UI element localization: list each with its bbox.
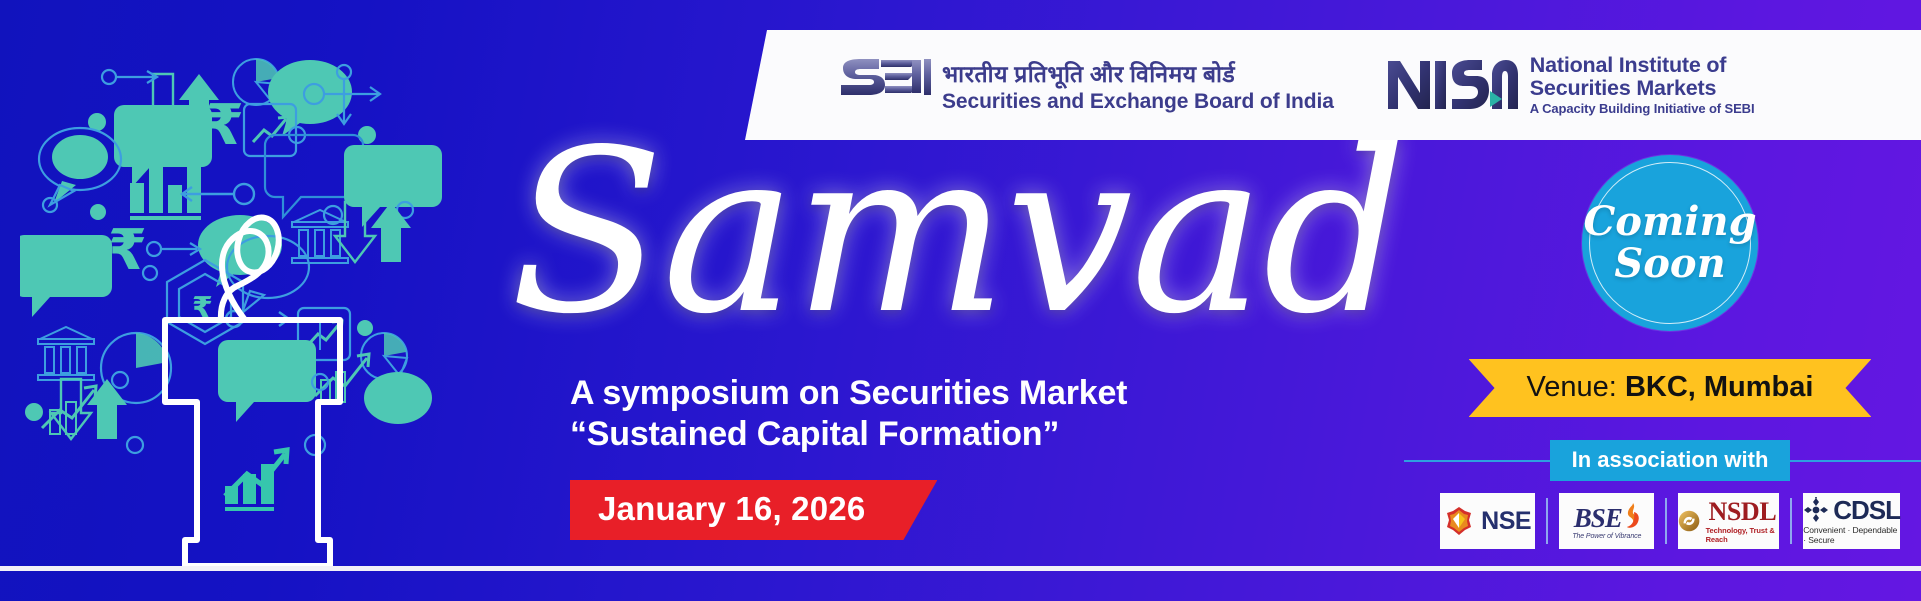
nsdl-swirl-icon [1678,507,1700,535]
venue-value: BKC, Mumbai [1625,371,1814,403]
association-label: In association with [1550,440,1791,481]
coming-soon-line-2: Soon [1614,244,1725,284]
cdsl-label: CDSL [1833,497,1900,523]
venue-label: Venue: [1527,371,1617,403]
bse-label: BSE [1574,503,1622,534]
sebi-logo: भारतीय प्रतिभूति और विनिमय बोर्ड Securit… [835,56,1334,114]
nism-line1: National Institute of [1530,54,1755,77]
coming-soon-badge: Coming Soon [1582,155,1758,331]
event-title: Samvad [500,130,1440,365]
association-header: In association with [1440,443,1900,477]
sebi-logomark-icon [835,56,932,114]
partner-divider [1546,498,1548,544]
nism-line3: A Capacity Building Initiative of SEBI [1530,102,1755,116]
sebi-english-name: Securities and Exchange Board of India [942,90,1334,114]
subtitle-line-2: “Sustained Capital Formation” [570,414,1440,455]
partner-logo-bse[interactable]: BSE The Power of Vibrance [1559,493,1654,549]
partner-divider [1665,498,1667,544]
sebi-hindi-name: भारतीय प्रतिभूति और विनिमय बोर्ड [942,57,1334,89]
bse-tagline: The Power of Vibrance [1572,533,1641,540]
nsdl-tagline: Technology, Trust & Reach [1706,526,1780,544]
partner-logo-nsdl[interactable]: NSDL Technology, Trust & Reach [1678,493,1779,549]
cdsl-tagline: Convenient · Dependable · Secure [1803,525,1900,545]
nse-logomark-icon [1444,506,1474,536]
finance-tree-illustration: ₹ [20,20,490,580]
partner-divider [1790,498,1792,544]
partner-header-band: भारतीय प्रतिभूति और विनिमय बोर्ड Securit… [745,30,1921,140]
partner-logo-cdsl[interactable]: CDSL Convenient · Dependable · Secure [1803,493,1900,549]
nsdl-label: NSDL [1709,499,1777,525]
bse-flame-icon [1623,503,1640,529]
subtitle-line-1: A symposium on Securities Market [570,373,1440,414]
event-date-banner: January 16, 2026 [570,480,937,540]
ground-line [0,566,1921,571]
nism-line2: Securities Markets [1530,77,1755,100]
partner-logo-row: NSE BSE The Power of Vibrance [1440,493,1900,549]
coming-soon-line-1: Coming [1583,202,1756,242]
nism-logo: National Institute of Securities Markets… [1386,54,1755,116]
event-meta-column: Coming Soon Venue: BKC, Mumbai In associ… [1440,155,1900,549]
event-subtitle: A symposium on Securities Market “Sustai… [500,373,1440,456]
event-banner: ₹ [0,0,1921,601]
nism-logomark-icon [1386,57,1518,113]
event-details: Samvad A symposium on Securities Market … [500,130,1440,540]
nse-label: NSE [1481,507,1531,536]
venue-ribbon: Venue: BKC, Mumbai [1469,359,1872,417]
partner-logo-nse[interactable]: NSE [1440,493,1535,549]
cdsl-diamond-icon [1803,497,1829,523]
